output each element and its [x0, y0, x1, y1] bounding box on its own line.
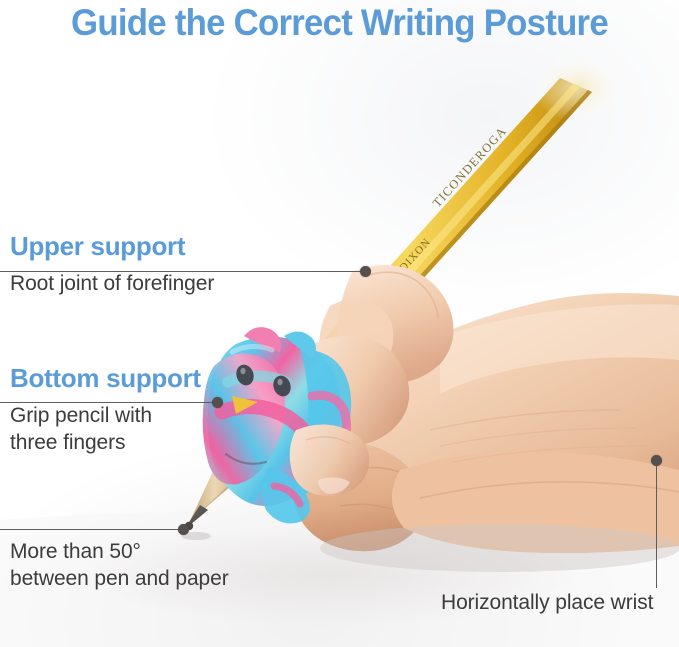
leader-dot-pen-angle	[178, 524, 189, 535]
infographic-page: TICONDEROGA DIXON	[0, 0, 679, 647]
leader-dot-bottom-support	[212, 397, 223, 408]
page-title: Guide the Correct Writing Posture	[20, 2, 658, 44]
callout-upper-support-heading: Upper support	[10, 233, 214, 259]
leader-dot-upper-support	[360, 266, 371, 277]
callout-bottom-support-heading: Bottom support	[10, 365, 201, 391]
callout-upper-support: Upper support Root joint of forefinger	[10, 233, 214, 298]
callout-wrist: Horizontally place wrist	[441, 590, 653, 617]
leader-line-pen-angle	[0, 529, 180, 530]
leader-line-wrist	[656, 466, 657, 588]
callout-bottom-support-body: Grip pencil with three fingers	[10, 403, 201, 457]
callout-upper-support-body: Root joint of forefinger	[10, 271, 214, 298]
leader-dot-wrist	[651, 455, 662, 466]
callout-bottom-support: Bottom support Grip pencil with three fi…	[10, 365, 201, 457]
hand	[293, 265, 679, 572]
callout-wrist-body: Horizontally place wrist	[441, 590, 653, 617]
callout-pen-angle-body: More than 50° between pen and paper	[10, 539, 229, 593]
callout-pen-angle: More than 50° between pen and paper	[10, 539, 229, 593]
